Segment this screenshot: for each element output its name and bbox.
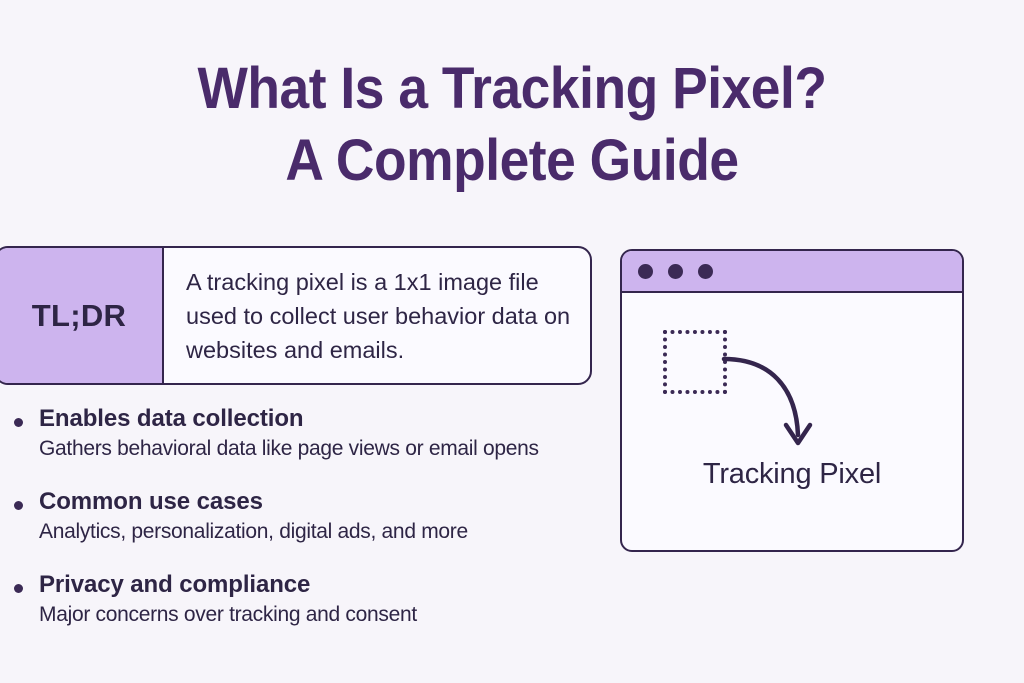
bullet-dot-icon [14, 584, 23, 593]
list-item: Enables data collection Gathers behavior… [10, 404, 630, 463]
key-points-list: Enables data collection Gathers behavior… [10, 404, 630, 629]
tldr-callout-box: TL;DR A tracking pixel is a 1x1 image fi… [0, 246, 592, 385]
list-item-title: Common use cases [39, 487, 630, 516]
list-item-subtitle: Major concerns over tracking and consent [39, 601, 630, 629]
dotted-square-icon [663, 330, 727, 394]
tldr-summary-panel: A tracking pixel is a 1x1 image file use… [164, 248, 590, 383]
page-title: What Is a Tracking Pixel? A Complete Gui… [0, 60, 1024, 190]
window-dot-icon [668, 264, 683, 279]
page-title-line-1: What Is a Tracking Pixel? [41, 60, 983, 118]
tldr-badge-label: TL;DR [32, 298, 126, 334]
tldr-summary-text: A tracking pixel is a 1x1 image file use… [186, 265, 574, 367]
window-dot-icon [698, 264, 713, 279]
list-item: Privacy and compliance Major concerns ov… [10, 570, 630, 629]
list-item-title: Enables data collection [39, 404, 630, 433]
infographic-canvas: What Is a Tracking Pixel? A Complete Gui… [0, 0, 1024, 683]
list-item-title: Privacy and compliance [39, 570, 630, 599]
list-item-subtitle: Analytics, personalization, digital ads,… [39, 518, 630, 546]
list-item: Common use cases Analytics, personalizat… [10, 487, 630, 546]
browser-titlebar [622, 251, 962, 293]
list-item-subtitle: Gathers behavioral data like page views … [39, 435, 630, 463]
bullet-dot-icon [14, 501, 23, 510]
bullet-dot-icon [14, 418, 23, 427]
window-dot-icon [638, 264, 653, 279]
tldr-badge: TL;DR [0, 248, 164, 383]
page-title-line-2: A Complete Guide [41, 132, 983, 190]
browser-content-area: Tracking Pixel [622, 293, 962, 550]
curved-arrow-down-icon [722, 353, 842, 463]
tracking-pixel-label: Tracking Pixel [622, 458, 962, 491]
browser-window-illustration: Tracking Pixel [620, 249, 964, 552]
